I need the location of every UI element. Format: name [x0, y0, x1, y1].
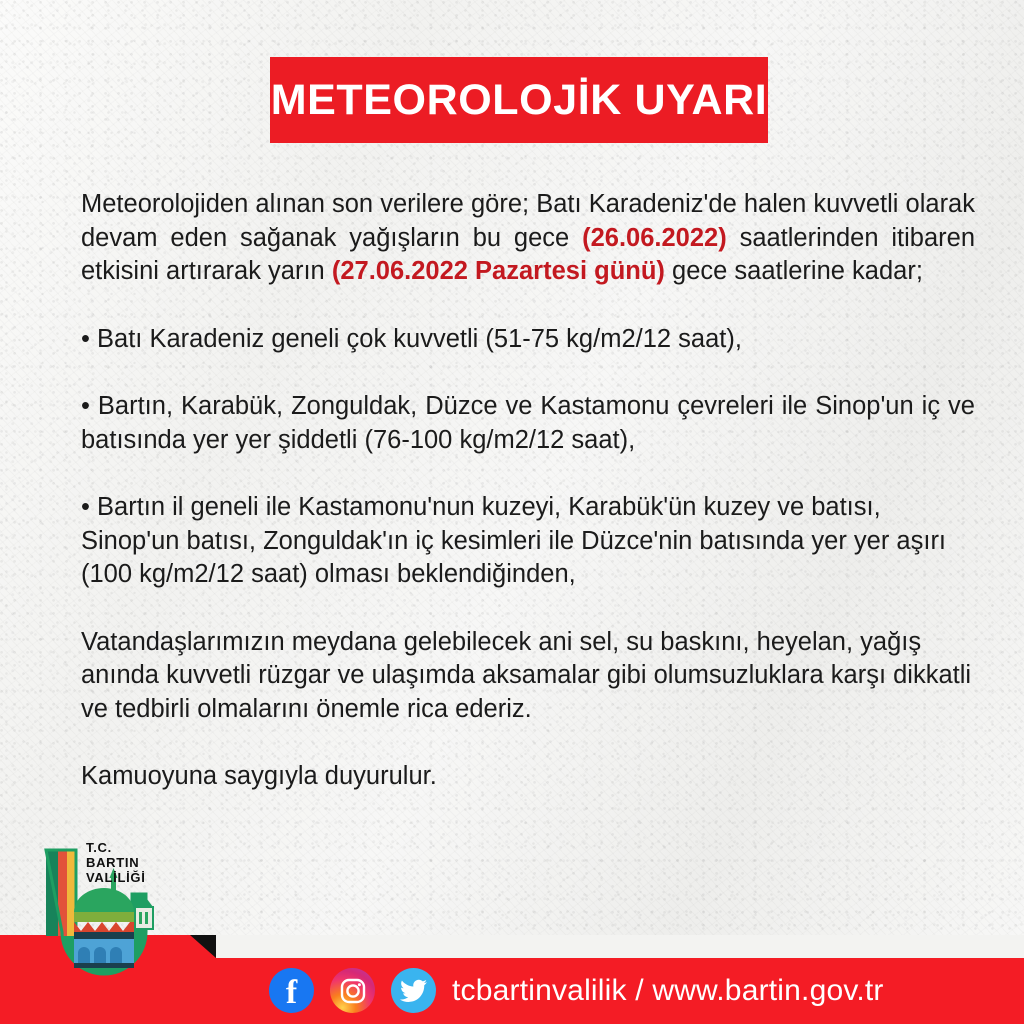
logo-line-tc: T.C.	[86, 840, 146, 855]
announcement-body: Meteorolojiden alınan son verilere göre;…	[81, 188, 975, 794]
closing-paragraph: Kamuoyuna saygıyla duyurulur.	[81, 760, 975, 794]
instagram-icon[interactable]	[330, 968, 375, 1013]
bullet-item-2: • Bartın, Karabük, Zonguldak, Düzce ve K…	[81, 390, 975, 457]
bullet-item-3: • Bartın il geneli ile Kastamonu'nun kuz…	[81, 491, 975, 592]
spacer	[81, 457, 975, 491]
highlight-date-tomorrow: (27.06.2022 Pazartesi günü)	[332, 257, 665, 285]
intro-paragraph: Meteorolojiden alınan son verilere göre;…	[81, 188, 975, 289]
spacer	[81, 726, 975, 760]
warning-title-banner: METEOROLOJİK UYARI	[270, 57, 768, 143]
advisory-paragraph: Vatandaşlarımızın meydana gelebilecek an…	[81, 626, 975, 727]
twitter-bird-glyph	[400, 979, 428, 1003]
spacer	[81, 356, 975, 390]
footer-handle-and-website[interactable]: tcbartinvalilik / www.bartin.gov.tr	[452, 968, 884, 1013]
logo-line-valiligi: VALİLİĞİ	[86, 870, 146, 885]
footer-corner-fold	[190, 935, 216, 958]
twitter-icon[interactable]	[391, 968, 436, 1013]
footer-step-wedge	[216, 935, 1024, 958]
instagram-camera-glyph	[339, 977, 367, 1005]
page-title: METEOROLOJİK UYARI	[271, 79, 768, 122]
spacer	[81, 289, 975, 323]
facebook-icon[interactable]: f	[269, 968, 314, 1013]
bullet-item-1: • Batı Karadeniz geneli çok kuvvetli (51…	[81, 323, 975, 357]
spacer	[81, 592, 975, 626]
meteorological-warning-poster: METEOROLOJİK UYARI Meteorolojiden alınan…	[0, 0, 1024, 1024]
logo-line-bartin: BARTIN	[86, 855, 146, 870]
facebook-glyph: f	[286, 976, 297, 1010]
logo-text-block: T.C. BARTIN VALİLİĞİ	[86, 840, 146, 885]
intro-segment-3: gece saatlerine kadar;	[665, 257, 923, 285]
highlight-date-today: (26.06.2022)	[582, 224, 727, 252]
bartin-governorship-logo: T.C. BARTIN VALİLİĞİ	[28, 832, 178, 1012]
social-links-row: f	[269, 968, 436, 1013]
